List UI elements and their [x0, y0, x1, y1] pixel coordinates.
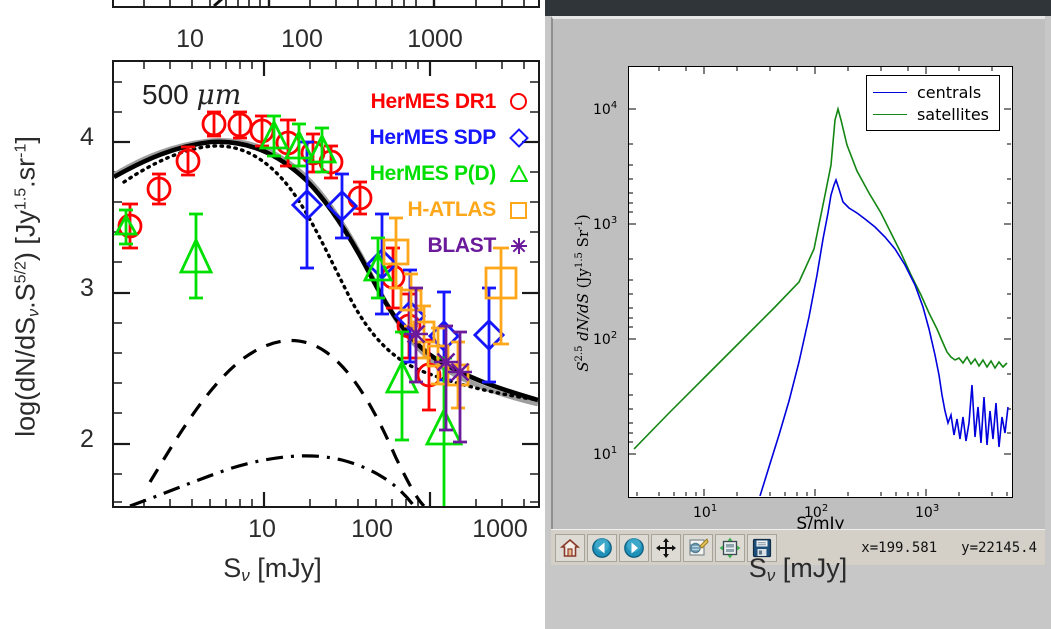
bottom-xtick-1000: 1000 [455, 515, 545, 544]
bottom-xtick-10: 10 [232, 515, 292, 544]
model-curve-dashed [150, 341, 424, 506]
yaxis-part3: ) [Jy [11, 210, 41, 261]
model-curve-dashdot [130, 456, 414, 506]
left-plot-legend: HerMES DR1 HerMES SDP HerMES P(D) H-ATLA… [292, 84, 532, 264]
legend-item-blast: BLAST [292, 228, 532, 264]
top-cutoff-plot [112, 0, 540, 8]
ylabel-units-mid: Sr [574, 230, 592, 252]
ytick-exponent: 3 [611, 215, 617, 226]
xtick-exponent: 1 [711, 503, 717, 514]
right-plot-yaxis-label: S2.5 dN/dS (Jy1.5 Sr-1) [574, 103, 592, 483]
left-ytick-2: 2 [72, 425, 102, 454]
legend-item-satellites: satellites [873, 103, 989, 125]
line-swatch [873, 92, 907, 93]
right-panel-bottom-xaxis-label: Sν [mJy] [545, 553, 1051, 586]
yaxis-sup3: -1 [13, 144, 30, 158]
top-xtick-10: 10 [160, 25, 220, 54]
top-cutoff-curve [214, 0, 232, 6]
ytick-exponent: 1 [611, 445, 617, 456]
xtick-exponent: 3 [933, 503, 939, 514]
top-xtick-100: 100 [267, 25, 337, 54]
left-ytick-4: 4 [72, 123, 102, 152]
yaxis-part2: .S [11, 283, 41, 309]
right-ytick-1e3: 103 [593, 215, 617, 233]
right-ytick-1e1: 101 [593, 445, 617, 463]
left-figure-panel: 10 100 1000 500 μm [0, 0, 545, 629]
legend-label: HerMES DR1 [371, 90, 496, 114]
right-ytick-1e4: 104 [593, 100, 617, 118]
diamond-icon [506, 125, 532, 151]
curve-centrals [760, 180, 1008, 496]
ylabel-s: S [574, 361, 592, 371]
bottom-xtick-100: 100 [337, 515, 407, 544]
window-titlebar[interactable] [545, 0, 1051, 16]
yaxis-part1: log(dN/dS [11, 317, 41, 437]
right-ytick-1e2: 102 [593, 330, 617, 348]
triangle-icon [506, 161, 532, 187]
legend-item-h-atlas: H-ATLAS [292, 192, 532, 228]
legend-label: satellites [917, 105, 989, 124]
legend-label: HerMES P(D) [370, 162, 496, 186]
asterisk-icon [506, 233, 532, 259]
yaxis-sup2: 1.5 [13, 188, 30, 210]
left-ytick-3: 3 [72, 274, 102, 303]
legend-item-hermes-sdp: HerMES SDP [292, 120, 532, 156]
bottom-xaxis-unit: [mJy] [775, 553, 847, 583]
ylabel-units-exp: 1.5 [574, 252, 585, 268]
ytick-mantissa: 10 [593, 332, 611, 348]
right-plot-content [629, 67, 1011, 496]
ylabel-units: (Jy [574, 268, 592, 293]
legend-item-hermes-dr1: HerMES DR1 [292, 84, 532, 120]
matplotlib-window: centrals satellites 104 103 102 101 101 … [545, 0, 1051, 629]
right-plot-legend: centrals satellites [866, 75, 1000, 131]
left-plot-xaxis-label: Sν [mJy] [0, 553, 545, 586]
ylabel-units-tail: ) [574, 214, 592, 220]
legend-label: BLAST [428, 234, 497, 258]
legend-item-centrals: centrals [873, 81, 989, 103]
ytick-exponent: 4 [611, 100, 617, 111]
ytick-exponent: 2 [611, 330, 617, 341]
curve-satellites [634, 109, 1007, 449]
ytick-mantissa: 10 [593, 102, 611, 118]
top-cutoff-ticks [114, 0, 538, 6]
figure-canvas: centrals satellites 104 103 102 101 101 … [551, 16, 1045, 529]
yaxis-part4: .sr [11, 158, 41, 188]
square-icon [506, 197, 532, 223]
yaxis-sub1: ν [26, 309, 43, 317]
ylabel-units-exp2: -1 [574, 220, 585, 230]
line-swatch [873, 114, 907, 115]
circle-icon [506, 89, 532, 115]
xaxis-symbol: S [223, 553, 241, 583]
xtick-exponent: 2 [822, 503, 828, 514]
right-plot-axes: centrals satellites [628, 66, 1013, 498]
left-main-plot-axes: 500 μm [112, 60, 540, 508]
legend-label: HerMES SDP [369, 126, 496, 150]
xaxis-unit: [mJy] [250, 553, 322, 583]
ylabel-s-exp: 2.5 [574, 346, 585, 362]
bottom-xaxis-symbol: S [749, 553, 767, 583]
legend-label: H-ATLAS [408, 198, 497, 222]
bottom-xaxis-subscript: ν [767, 566, 776, 585]
yaxis-part5: ] [11, 136, 41, 144]
yaxis-sup1: 5/2 [13, 261, 30, 283]
ytick-mantissa: 10 [593, 447, 611, 463]
ylabel-dnds: dN/dS [574, 293, 592, 345]
ytick-mantissa: 10 [593, 217, 611, 233]
legend-label: centrals [917, 83, 981, 102]
left-plot-yaxis-label: log(dN/dSν.S5/2) [Jy1.5.sr-1] [11, 72, 44, 502]
legend-item-hermes-pd: HerMES P(D) [292, 156, 532, 192]
xaxis-subscript: ν [241, 566, 250, 585]
top-xtick-1000: 1000 [390, 25, 480, 54]
